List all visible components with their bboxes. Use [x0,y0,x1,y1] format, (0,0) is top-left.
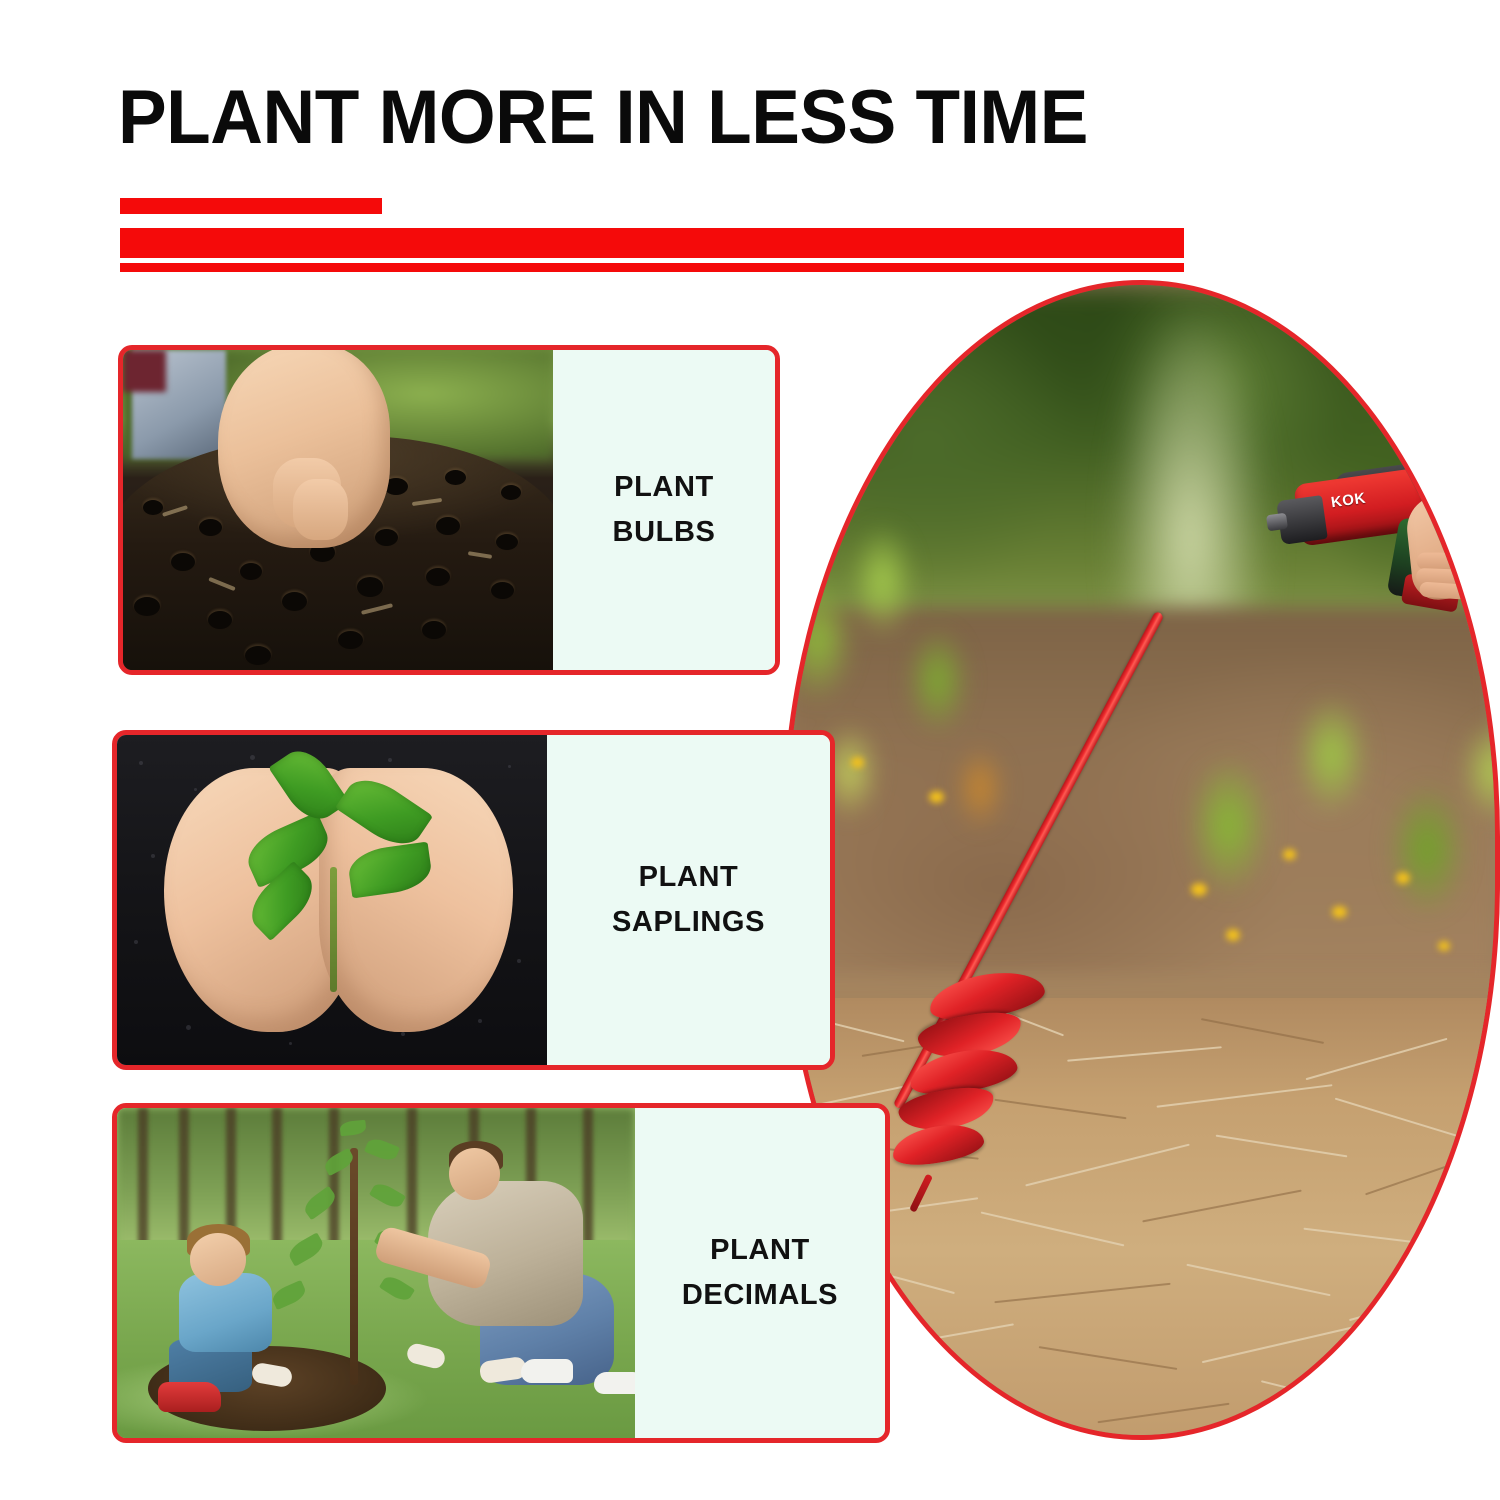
feature-photo-decimals [117,1108,635,1438]
feature-label-bulbs: PLANT BULBS [553,350,775,670]
feature-label-line2: BULBS [613,510,716,555]
cordless-drill: KOK [1283,458,1493,593]
page-title: PLANT MORE IN LESS TIME [118,80,1088,156]
feature-label-line1: PLANT [614,465,714,510]
hand-planting-seed [218,350,390,548]
feature-label-line1: PLANT [639,855,739,900]
accent-rule-thick [120,228,1184,258]
background-garment [123,350,166,392]
feature-card-bulbs[interactable]: PLANT BULBS [118,345,780,675]
photo-plant-saplings [117,735,547,1065]
auger-drill-product: KOK [787,285,1495,1435]
drill-nose [1266,512,1288,531]
sapling-stem [330,867,337,992]
boy-head [190,1233,247,1286]
feature-photo-bulbs [123,350,553,670]
feature-label-line2: SAPLINGS [612,900,765,945]
feature-label-decimals: PLANT DECIMALS [635,1108,885,1438]
feature-photo-saplings [117,735,547,1065]
auger-tip [909,1174,933,1213]
feature-label-line1: PLANT [710,1228,810,1273]
garden-scene-photo: KOK [787,285,1495,1435]
feature-label-saplings: PLANT SAPLINGS [547,735,830,1065]
feature-label-line2: DECIMALS [682,1273,838,1318]
feature-card-decimals[interactable]: PLANT DECIMALS [112,1103,890,1443]
photo-plant-decimals [117,1108,635,1438]
accent-rule-short [120,198,382,214]
boy-shoe [158,1382,220,1412]
auger-bit-spiral [886,972,1074,1208]
accent-rule-thin [120,263,1184,272]
young-tree-trunk [350,1148,358,1386]
poster-canvas: PLANT MORE IN LESS TIME [0,0,1500,1500]
feature-card-saplings[interactable]: PLANT SAPLINGS [112,730,835,1070]
photo-plant-bulbs [123,350,553,670]
hand-gripping-drill [1403,489,1495,601]
